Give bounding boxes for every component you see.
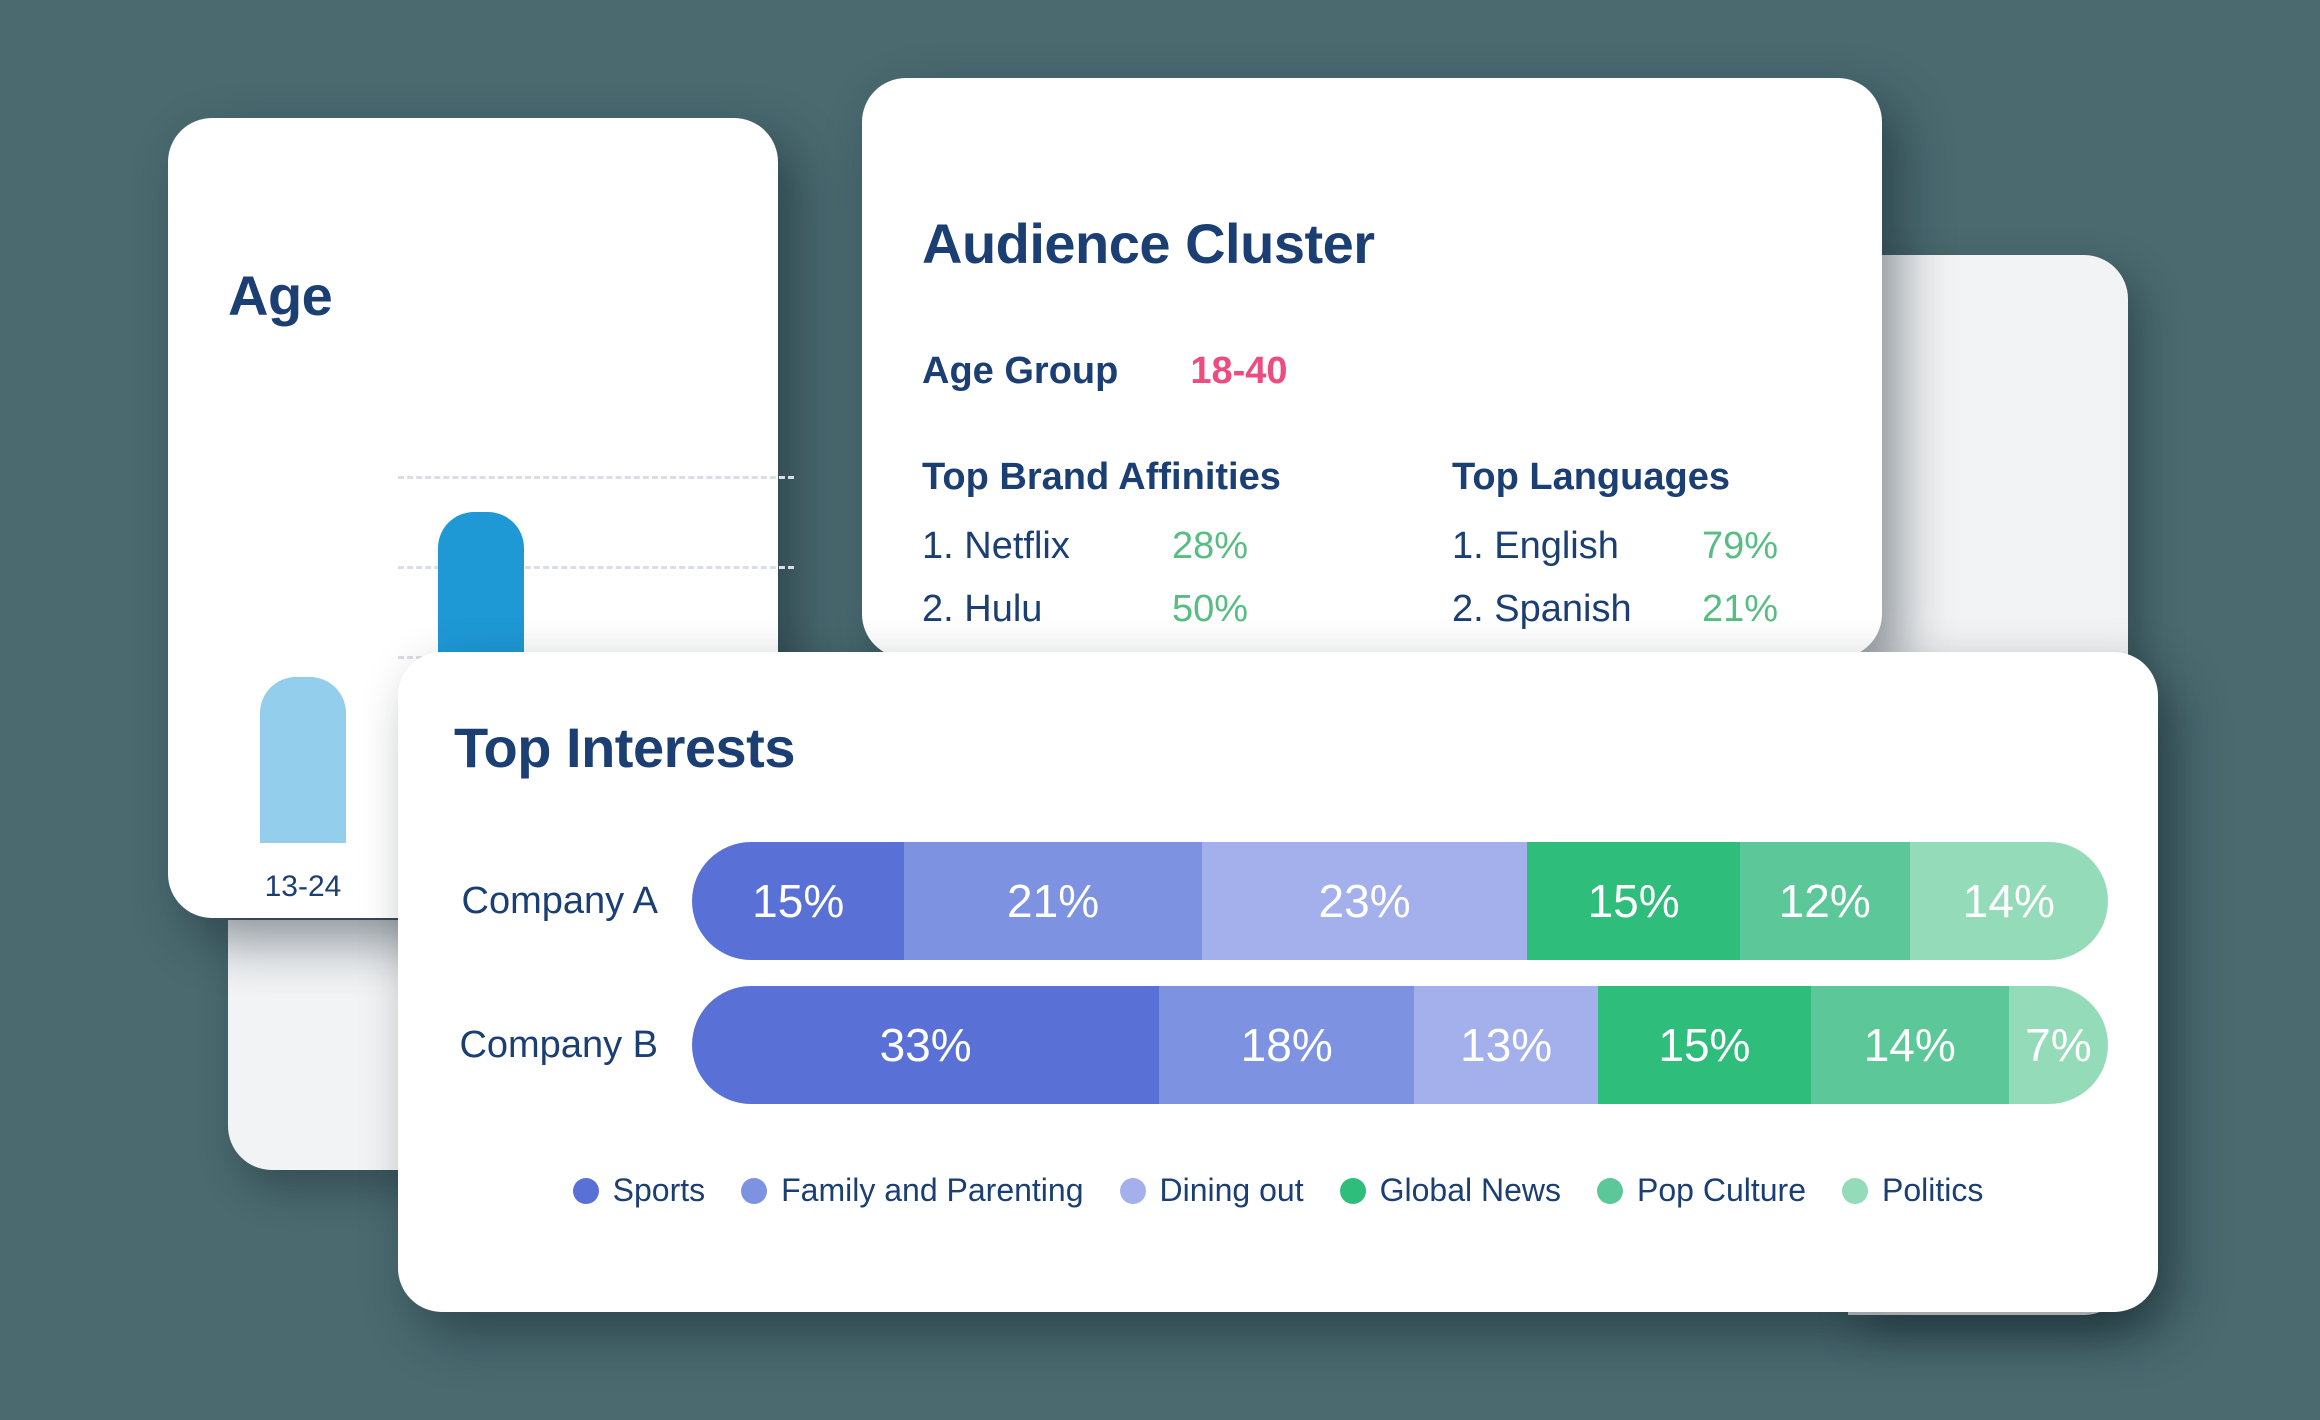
list-item: 2. Hulu50%	[922, 588, 1362, 631]
list-item-name: 2. Spanish	[1452, 588, 1702, 631]
legend-item[interactable]: Family and Parenting	[741, 1172, 1083, 1209]
stacked-bar-segment[interactable]: 12%	[1740, 842, 1910, 960]
interest-bar-row: Company A15%21%23%15%12%14%	[454, 842, 2108, 960]
stacked-bar-segment[interactable]: 15%	[1527, 842, 1739, 960]
stacked-bar-segment[interactable]: 14%	[1910, 842, 2108, 960]
age-card-title: Age	[228, 268, 332, 324]
top-interests-card: Top Interests Company A15%21%23%15%12%14…	[398, 652, 2158, 1312]
top-interests-legend: SportsFamily and ParentingDining outGlob…	[398, 1172, 2158, 1209]
audience-column-2: Top Languages1. English79%2. Spanish21%	[1452, 456, 1892, 651]
list-item: 1. Netflix28%	[922, 525, 1362, 568]
legend-item[interactable]: Dining out	[1120, 1172, 1304, 1209]
legend-dot-icon	[573, 1178, 599, 1204]
list-item: 1. English79%	[1452, 525, 1892, 568]
list-item-percent: 50%	[1172, 588, 1248, 631]
legend-label: Global News	[1380, 1172, 1561, 1209]
age-bar-1	[260, 677, 346, 843]
legend-dot-icon	[741, 1178, 767, 1204]
legend-label: Politics	[1882, 1172, 1983, 1209]
list-item: 2. Spanish21%	[1452, 588, 1892, 631]
stacked-bar-segment[interactable]: 21%	[904, 842, 1201, 960]
legend-item[interactable]: Politics	[1842, 1172, 1983, 1209]
interest-bar-row: Company B33%18%13%15%14%7%	[454, 986, 2108, 1104]
list-item-percent: 79%	[1702, 525, 1778, 568]
stacked-bar-segment[interactable]: 7%	[2009, 986, 2108, 1104]
list-item-name: 1. English	[1452, 525, 1702, 568]
age-group-value: 18-40	[1190, 350, 1287, 393]
audience-column-heading: Top Brand Affinities	[922, 456, 1362, 499]
stacked-bar-segment[interactable]: 23%	[1202, 842, 1528, 960]
age-group-row: Age Group 18-40	[922, 350, 1288, 393]
list-item-name: 1. Netflix	[922, 525, 1172, 568]
audience-column-1: Top Brand Affinities1. Netflix28%2. Hulu…	[922, 456, 1362, 651]
stacked-bar: 33%18%13%15%14%7%	[692, 986, 2108, 1104]
dashboard-stage: Age 13-24 Audience Cluster Age Group 18-…	[0, 0, 2320, 1420]
legend-dot-icon	[1120, 1178, 1146, 1204]
legend-label: Family and Parenting	[781, 1172, 1083, 1209]
top-interests-title: Top Interests	[454, 720, 795, 776]
age-axis-tick-label: 13-24	[208, 870, 398, 904]
legend-label: Dining out	[1160, 1172, 1304, 1209]
stacked-bar: 15%21%23%15%12%14%	[692, 842, 2108, 960]
legend-dot-icon	[1842, 1178, 1868, 1204]
audience-cluster-title: Audience Cluster	[922, 216, 1375, 272]
audience-cluster-card: Audience Cluster Age Group 18-40 Top Bra…	[862, 78, 1882, 658]
legend-dot-icon	[1340, 1178, 1366, 1204]
stacked-bar-segment[interactable]: 18%	[1159, 986, 1414, 1104]
stacked-bar-segment[interactable]: 15%	[1598, 986, 1810, 1104]
list-item-percent: 21%	[1702, 588, 1778, 631]
stacked-bar-segment[interactable]: 13%	[1414, 986, 1598, 1104]
audience-column-heading: Top Languages	[1452, 456, 1892, 499]
list-item-percent: 28%	[1172, 525, 1248, 568]
legend-item[interactable]: Global News	[1340, 1172, 1561, 1209]
stacked-bar-segment[interactable]: 33%	[692, 986, 1159, 1104]
age-group-label: Age Group	[922, 350, 1118, 393]
legend-dot-icon	[1597, 1178, 1623, 1204]
legend-label: Pop Culture	[1637, 1172, 1806, 1209]
stacked-bar-segment[interactable]: 15%	[692, 842, 904, 960]
legend-item[interactable]: Sports	[573, 1172, 705, 1209]
gridline	[398, 476, 794, 479]
interest-row-label: Company B	[454, 1024, 692, 1067]
legend-item[interactable]: Pop Culture	[1597, 1172, 1806, 1209]
interest-row-label: Company A	[454, 880, 692, 923]
top-interests-bar-rows: Company A15%21%23%15%12%14%Company B33%1…	[454, 842, 2108, 1130]
list-item-name: 2. Hulu	[922, 588, 1172, 631]
audience-cluster-columns: Top Brand Affinities1. Netflix28%2. Hulu…	[922, 456, 1892, 651]
stacked-bar-segment[interactable]: 14%	[1811, 986, 2009, 1104]
legend-label: Sports	[613, 1172, 705, 1209]
